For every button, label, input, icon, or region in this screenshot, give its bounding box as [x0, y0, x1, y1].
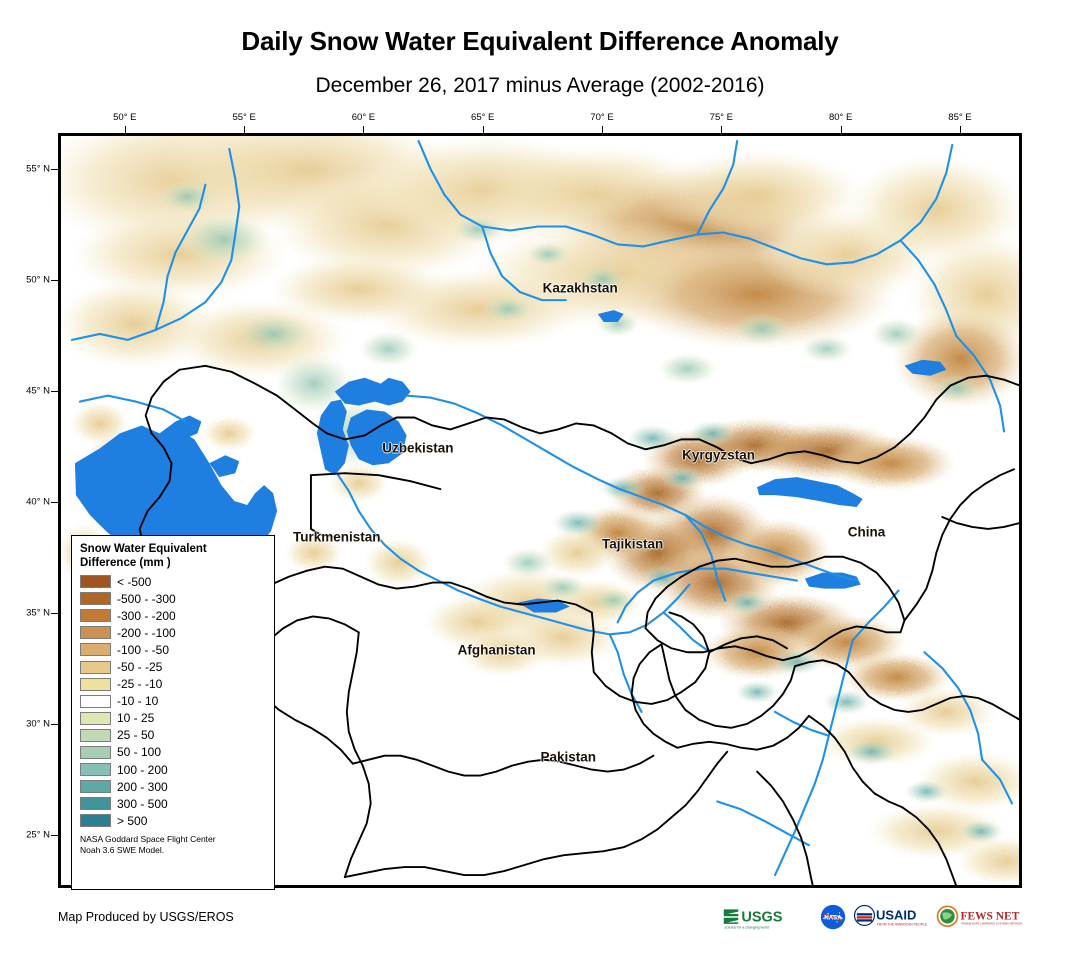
legend-row[interactable]: -10 - 10: [80, 693, 266, 710]
legend-color-swatch: [80, 797, 111, 810]
page-subtitle: December 26, 2017 minus Average (2002-20…: [0, 74, 1080, 98]
legend-color-swatch: [80, 575, 111, 588]
legend-title: Snow Water Equivalent Difference (mm ): [80, 543, 266, 570]
map-page: Daily Snow Water Equivalent Difference A…: [0, 0, 1080, 960]
legend-row[interactable]: < -500: [80, 573, 266, 590]
legend-title-line2: Difference (mm ): [80, 557, 266, 571]
svg-text:FEWS NET: FEWS NET: [961, 910, 1020, 922]
latitude-tick-label: 50° N: [16, 274, 50, 285]
legend-row[interactable]: -100 - -50: [80, 641, 266, 658]
latitude-tick-label: 40° N: [16, 496, 50, 507]
longitude-tick-mark: [841, 126, 842, 133]
fewsnet-logo[interactable]: FEWS NET FAMINE EARLY WARNING SYSTEMS NE…: [936, 904, 1022, 930]
longitude-tick-label: 85° E: [948, 112, 971, 123]
legend-class-label: 300 - 500: [117, 797, 168, 811]
latitude-tick-label: 35° N: [16, 607, 50, 618]
latitude-tick-label: 55° N: [16, 163, 50, 174]
latitude-tick-mark: [51, 613, 58, 614]
latitude-tick-label: 30° N: [16, 718, 50, 729]
usgs-logo[interactable]: USGS science for a changing world: [723, 904, 813, 930]
legend-row[interactable]: 100 - 200: [80, 761, 266, 778]
footer-credit: Map Produced by USGS/EROS: [58, 910, 234, 924]
legend-color-swatch: [80, 609, 111, 622]
legend-class-label: -100 - -50: [117, 643, 169, 657]
legend-class-label: 10 - 25: [117, 711, 154, 725]
longitude-tick-label: 70° E: [590, 112, 613, 123]
svg-text:USGS: USGS: [741, 910, 782, 926]
longitude-tick-mark: [721, 126, 722, 133]
legend-row[interactable]: 200 - 300: [80, 778, 266, 795]
longitude-tick-label: 55° E: [232, 112, 255, 123]
legend-color-swatch: [80, 814, 111, 827]
legend-color-swatch: [80, 678, 111, 691]
longitude-tick-label: 65° E: [471, 112, 494, 123]
longitude-tick-mark: [244, 126, 245, 133]
legend-row[interactable]: 10 - 25: [80, 710, 266, 727]
svg-text:FROM THE AMERICAN PEOPLE: FROM THE AMERICAN PEOPLE: [877, 922, 928, 926]
legend-class-label: -25 - -10: [117, 677, 162, 691]
longitude-tick-mark: [483, 126, 484, 133]
legend-row[interactable]: 50 - 100: [80, 744, 266, 761]
longitude-tick-label: 80° E: [829, 112, 852, 123]
legend-row[interactable]: -500 - -300: [80, 590, 266, 607]
legend-color-swatch: [80, 746, 111, 759]
legend-class-label: -300 - -200: [117, 609, 176, 623]
page-title: Daily Snow Water Equivalent Difference A…: [0, 26, 1080, 57]
longitude-tick-mark: [125, 126, 126, 133]
legend-color-swatch: [80, 695, 111, 708]
legend-color-swatch: [80, 780, 111, 793]
legend-color-swatch: [80, 661, 111, 674]
legend-row[interactable]: 25 - 50: [80, 727, 266, 744]
svg-text:NASA: NASA: [824, 914, 842, 921]
legend-class-label: -500 - -300: [117, 592, 176, 606]
nasa-logo[interactable]: NASA: [820, 904, 846, 930]
legend-color-swatch: [80, 729, 111, 742]
legend-class-label: 100 - 200: [117, 763, 168, 777]
legend-color-swatch: [80, 626, 111, 639]
legend-color-swatch: [80, 592, 111, 605]
legend-color-swatch: [80, 643, 111, 656]
legend-row[interactable]: -25 - -10: [80, 676, 266, 693]
latitude-tick-label: 45° N: [16, 385, 50, 396]
legend-source-line1: NASA Goddard Space Flight Center: [80, 834, 266, 845]
latitude-tick-label: 25° N: [16, 829, 50, 840]
legend-title-line1: Snow Water Equivalent: [80, 543, 266, 557]
latitude-tick-mark: [51, 502, 58, 503]
legend-row[interactable]: -300 - -200: [80, 607, 266, 624]
longitude-tick-mark: [602, 126, 603, 133]
longitude-tick-mark: [363, 126, 364, 133]
svg-text:science for a changing world: science for a changing world: [724, 925, 768, 929]
latitude-tick-mark: [51, 835, 58, 836]
svg-text:FAMINE EARLY WARNING SYSTEMS N: FAMINE EARLY WARNING SYSTEMS NETWORK: [962, 922, 1022, 926]
legend-source-line2: Noah 3.6 SWE Model.: [80, 845, 266, 856]
legend-class-label: -10 - 10: [117, 694, 158, 708]
legend-color-swatch: [80, 763, 111, 776]
legend-class-label: < -500: [117, 575, 151, 589]
legend-class-list: < -500-500 - -300-300 - -200-200 - -100-…: [80, 573, 266, 829]
legend-row[interactable]: -200 - -100: [80, 624, 266, 641]
longitude-tick-mark: [960, 126, 961, 133]
legend-class-label: 200 - 300: [117, 780, 168, 794]
longitude-tick-label: 50° E: [113, 112, 136, 123]
usaid-logo[interactable]: USAID FROM THE AMERICAN PEOPLE: [853, 904, 929, 930]
latitude-tick-mark: [51, 391, 58, 392]
latitude-tick-mark: [51, 169, 58, 170]
legend-source-note: NASA Goddard Space Flight Center Noah 3.…: [80, 834, 266, 855]
legend-class-label: 50 - 100: [117, 745, 161, 759]
legend-row[interactable]: > 500: [80, 812, 266, 829]
legend-class-label: 25 - 50: [117, 728, 154, 742]
legend-color-swatch: [80, 712, 111, 725]
longitude-tick-label: 60° E: [352, 112, 375, 123]
latitude-tick-mark: [51, 724, 58, 725]
latitude-tick-mark: [51, 280, 58, 281]
legend-panel[interactable]: Snow Water Equivalent Difference (mm ) <…: [71, 535, 275, 890]
legend-row[interactable]: -50 - -25: [80, 658, 266, 675]
legend-class-label: -200 - -100: [117, 626, 176, 640]
legend-class-label: -50 - -25: [117, 660, 162, 674]
legend-class-label: > 500: [117, 814, 147, 828]
longitude-tick-label: 75° E: [710, 112, 733, 123]
legend-row[interactable]: 300 - 500: [80, 795, 266, 812]
logo-bar: USGS science for a changing world NASA U…: [723, 900, 1022, 934]
svg-text:USAID: USAID: [876, 907, 916, 922]
